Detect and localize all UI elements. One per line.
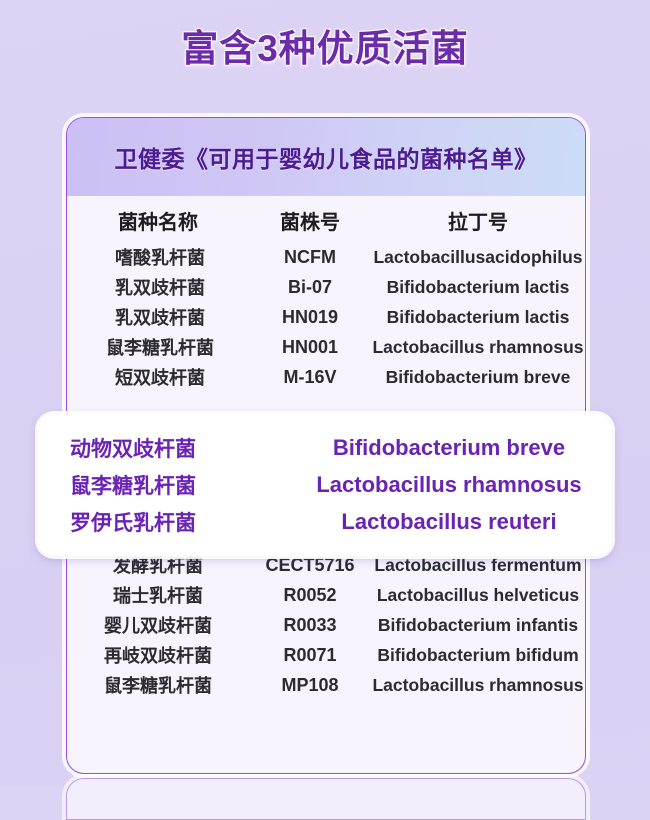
cell-latin: Lactobacillusacidophilus [371, 242, 585, 272]
highlight-cell-name: 鼠李糖乳杆菌 [38, 470, 300, 500]
highlight-cell-latin: Bifidobacterium breve [300, 435, 612, 461]
highlight-cell-name: 罗伊氏乳杆菌 [38, 507, 300, 537]
cell-strain: MP108 [249, 670, 371, 700]
cell-latin: Lactobacillus rhamnosus [371, 670, 585, 700]
cell-name: 乳双歧杆菌 [67, 272, 249, 302]
table-row: 鼠李糖乳杆菌 HN001 Lactobacillus rhamnosus [67, 332, 585, 362]
cell-latin: Bifidobacterium lactis [371, 272, 585, 302]
column-header-latin: 拉丁号 [371, 198, 585, 242]
highlight-row: 动物双歧杆菌 Bifidobacterium breve [38, 430, 612, 467]
highlight-cell-latin: Lactobacillus rhamnosus [300, 472, 612, 498]
page-title: 富含3种优质活菌 [0, 18, 650, 72]
strain-table-bottom: 发酵乳杆菌 CECT5716 Lactobacillus fermentum 瑞… [67, 550, 585, 700]
cell-strain: R0033 [249, 610, 371, 640]
next-section-card [66, 778, 586, 820]
cell-name: 短双歧杆菌 [67, 362, 249, 392]
cell-latin: Bifidobacterium bifidum [371, 640, 585, 670]
card-header-title: 卫健委《可用于婴幼儿食品的菌种名单》 [115, 140, 538, 174]
cell-name: 嗜酸乳杆菌 [67, 242, 249, 272]
table-row: 嗜酸乳杆菌 NCFM Lactobacillusacidophilus [67, 242, 585, 272]
cell-latin: Bifidobacterium breve [371, 362, 585, 392]
cell-name: 婴儿双歧杆菌 [67, 610, 249, 640]
highlighted-strains-card: 动物双歧杆菌 Bifidobacterium breve 鼠李糖乳杆菌 Lact… [38, 414, 612, 556]
column-header-strain: 菌株号 [249, 198, 371, 242]
cell-strain: HN019 [249, 302, 371, 332]
cell-strain: R0071 [249, 640, 371, 670]
cell-latin: Bifidobacterium lactis [371, 302, 585, 332]
table-row: 乳双歧杆菌 Bi-07 Bifidobacterium lactis [67, 272, 585, 302]
cell-latin: Lactobacillus helveticus [371, 580, 585, 610]
strain-table-top: 菌种名称 菌株号 拉丁号 嗜酸乳杆菌 NCFM Lactobacillusaci… [67, 198, 585, 392]
cell-name: 再岐双歧杆菌 [67, 640, 249, 670]
cell-name: 鼠李糖乳杆菌 [67, 670, 249, 700]
cell-strain: HN001 [249, 332, 371, 362]
table-row: 短双歧杆菌 M-16V Bifidobacterium breve [67, 362, 585, 392]
table-row: 鼠李糖乳杆菌 MP108 Lactobacillus rhamnosus [67, 670, 585, 700]
card-header: 卫健委《可用于婴幼儿食品的菌种名单》 [67, 118, 585, 196]
cell-latin: Bifidobacterium infantis [371, 610, 585, 640]
highlight-cell-name: 动物双歧杆菌 [38, 433, 300, 463]
cell-name: 乳双歧杆菌 [67, 302, 249, 332]
highlight-row: 鼠李糖乳杆菌 Lactobacillus rhamnosus [38, 467, 612, 504]
cell-strain: M-16V [249, 362, 371, 392]
highlight-row: 罗伊氏乳杆菌 Lactobacillus reuteri [38, 504, 612, 541]
table-row: 乳双歧杆菌 HN019 Bifidobacterium lactis [67, 302, 585, 332]
cell-strain: NCFM [249, 242, 371, 272]
cell-latin: Lactobacillus rhamnosus [371, 332, 585, 362]
cell-strain: R0052 [249, 580, 371, 610]
cell-name: 瑞士乳杆菌 [67, 580, 249, 610]
table-row: 瑞士乳杆菌 R0052 Lactobacillus helveticus [67, 580, 585, 610]
cell-strain: Bi-07 [249, 272, 371, 302]
column-header-name: 菌种名称 [67, 198, 249, 242]
table-header-row: 菌种名称 菌株号 拉丁号 [67, 198, 585, 242]
highlight-cell-latin: Lactobacillus reuteri [300, 509, 612, 535]
table-row: 婴儿双歧杆菌 R0033 Bifidobacterium infantis [67, 610, 585, 640]
cell-name: 鼠李糖乳杆菌 [67, 332, 249, 362]
table-row: 再岐双歧杆菌 R0071 Bifidobacterium bifidum [67, 640, 585, 670]
